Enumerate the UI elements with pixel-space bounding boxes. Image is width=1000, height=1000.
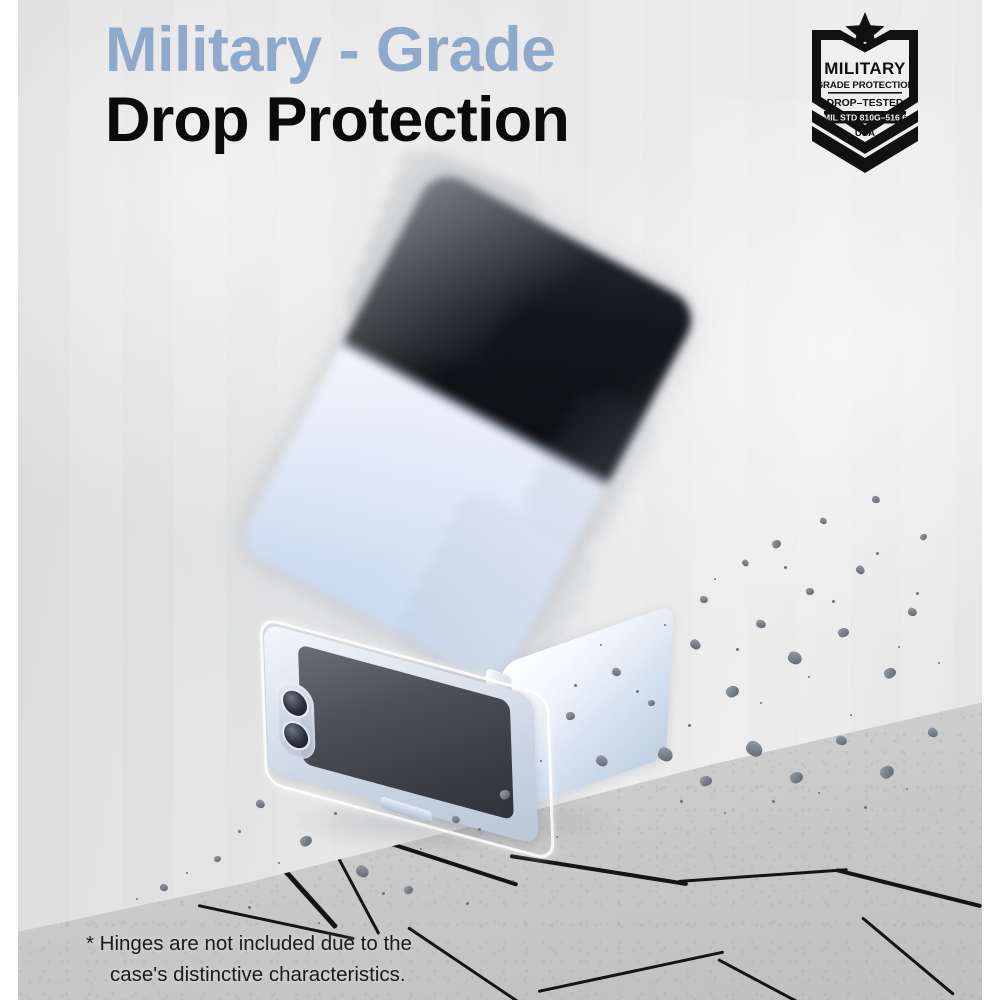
dust-particle bbox=[876, 552, 879, 555]
badge-divider-1 bbox=[828, 92, 902, 94]
dust-particle bbox=[334, 812, 337, 815]
badge-text-drop-tested: DROP–TESTED bbox=[827, 98, 904, 109]
disclaimer-line-1: * Hinges are not included due to the bbox=[86, 932, 412, 955]
dust-particle bbox=[478, 828, 481, 831]
dust-particle bbox=[636, 690, 639, 693]
dust-particle bbox=[850, 714, 852, 716]
landed-flip-phone bbox=[262, 642, 652, 857]
dust-particle bbox=[898, 646, 900, 648]
dust-particle bbox=[680, 800, 683, 803]
disclaimer-line-2: case's distinctive characteristics. bbox=[110, 959, 412, 990]
dust-particle bbox=[808, 676, 810, 678]
dust-particle bbox=[382, 892, 385, 895]
badge-svg: MILITARY GRADE PROTECTION DROP–TESTED MI… bbox=[806, 10, 924, 176]
military-grade-badge: MILITARY GRADE PROTECTION DROP–TESTED MI… bbox=[806, 10, 924, 176]
badge-text-mil-std: MIL STD 810G–516 6 bbox=[823, 112, 907, 122]
dust-particle bbox=[466, 902, 469, 905]
dust-particle bbox=[318, 922, 320, 924]
dust-particle bbox=[724, 812, 726, 814]
dust-particle bbox=[238, 830, 241, 833]
badge-text-military: MILITARY bbox=[824, 59, 906, 78]
disclaimer-text: * Hinges are not included due to the cas… bbox=[86, 928, 412, 990]
dust-particle bbox=[186, 872, 188, 874]
product-marketing-image: Military - Grade Drop Protection MILITAR… bbox=[0, 0, 1000, 1000]
dust-particle bbox=[938, 662, 940, 664]
dust-particle bbox=[864, 806, 867, 809]
dust-particle bbox=[906, 788, 908, 790]
headline-line-2: Drop Protection bbox=[105, 88, 569, 152]
camera-lens-primary bbox=[283, 688, 308, 719]
dust-particle bbox=[136, 898, 138, 900]
dust-particle bbox=[420, 848, 422, 850]
dust-particle bbox=[916, 592, 919, 595]
badge-text-grade-protection: GRADE PROTECTION bbox=[816, 80, 915, 91]
dust-particle bbox=[760, 702, 762, 704]
dust-particle bbox=[714, 578, 716, 580]
dust-particle bbox=[664, 624, 666, 626]
camera-lens-secondary bbox=[284, 720, 309, 751]
dust-particle bbox=[832, 600, 835, 603]
headline-line-1: Military - Grade bbox=[105, 18, 569, 82]
dust-particle bbox=[556, 836, 558, 838]
dust-particle bbox=[574, 684, 577, 687]
dust-particle bbox=[278, 862, 280, 864]
dust-particle bbox=[600, 644, 602, 646]
dust-particle bbox=[688, 724, 691, 727]
dust-particle bbox=[784, 566, 787, 569]
dust-particle bbox=[818, 792, 820, 794]
dust-particle bbox=[248, 906, 251, 909]
badge-text-usa: USA bbox=[855, 128, 875, 139]
dust-particle bbox=[772, 800, 775, 803]
headline-block: Military - Grade Drop Protection bbox=[105, 18, 569, 153]
dust-particle bbox=[736, 648, 739, 651]
dust-particle bbox=[512, 880, 514, 882]
dust-particle bbox=[540, 760, 542, 762]
